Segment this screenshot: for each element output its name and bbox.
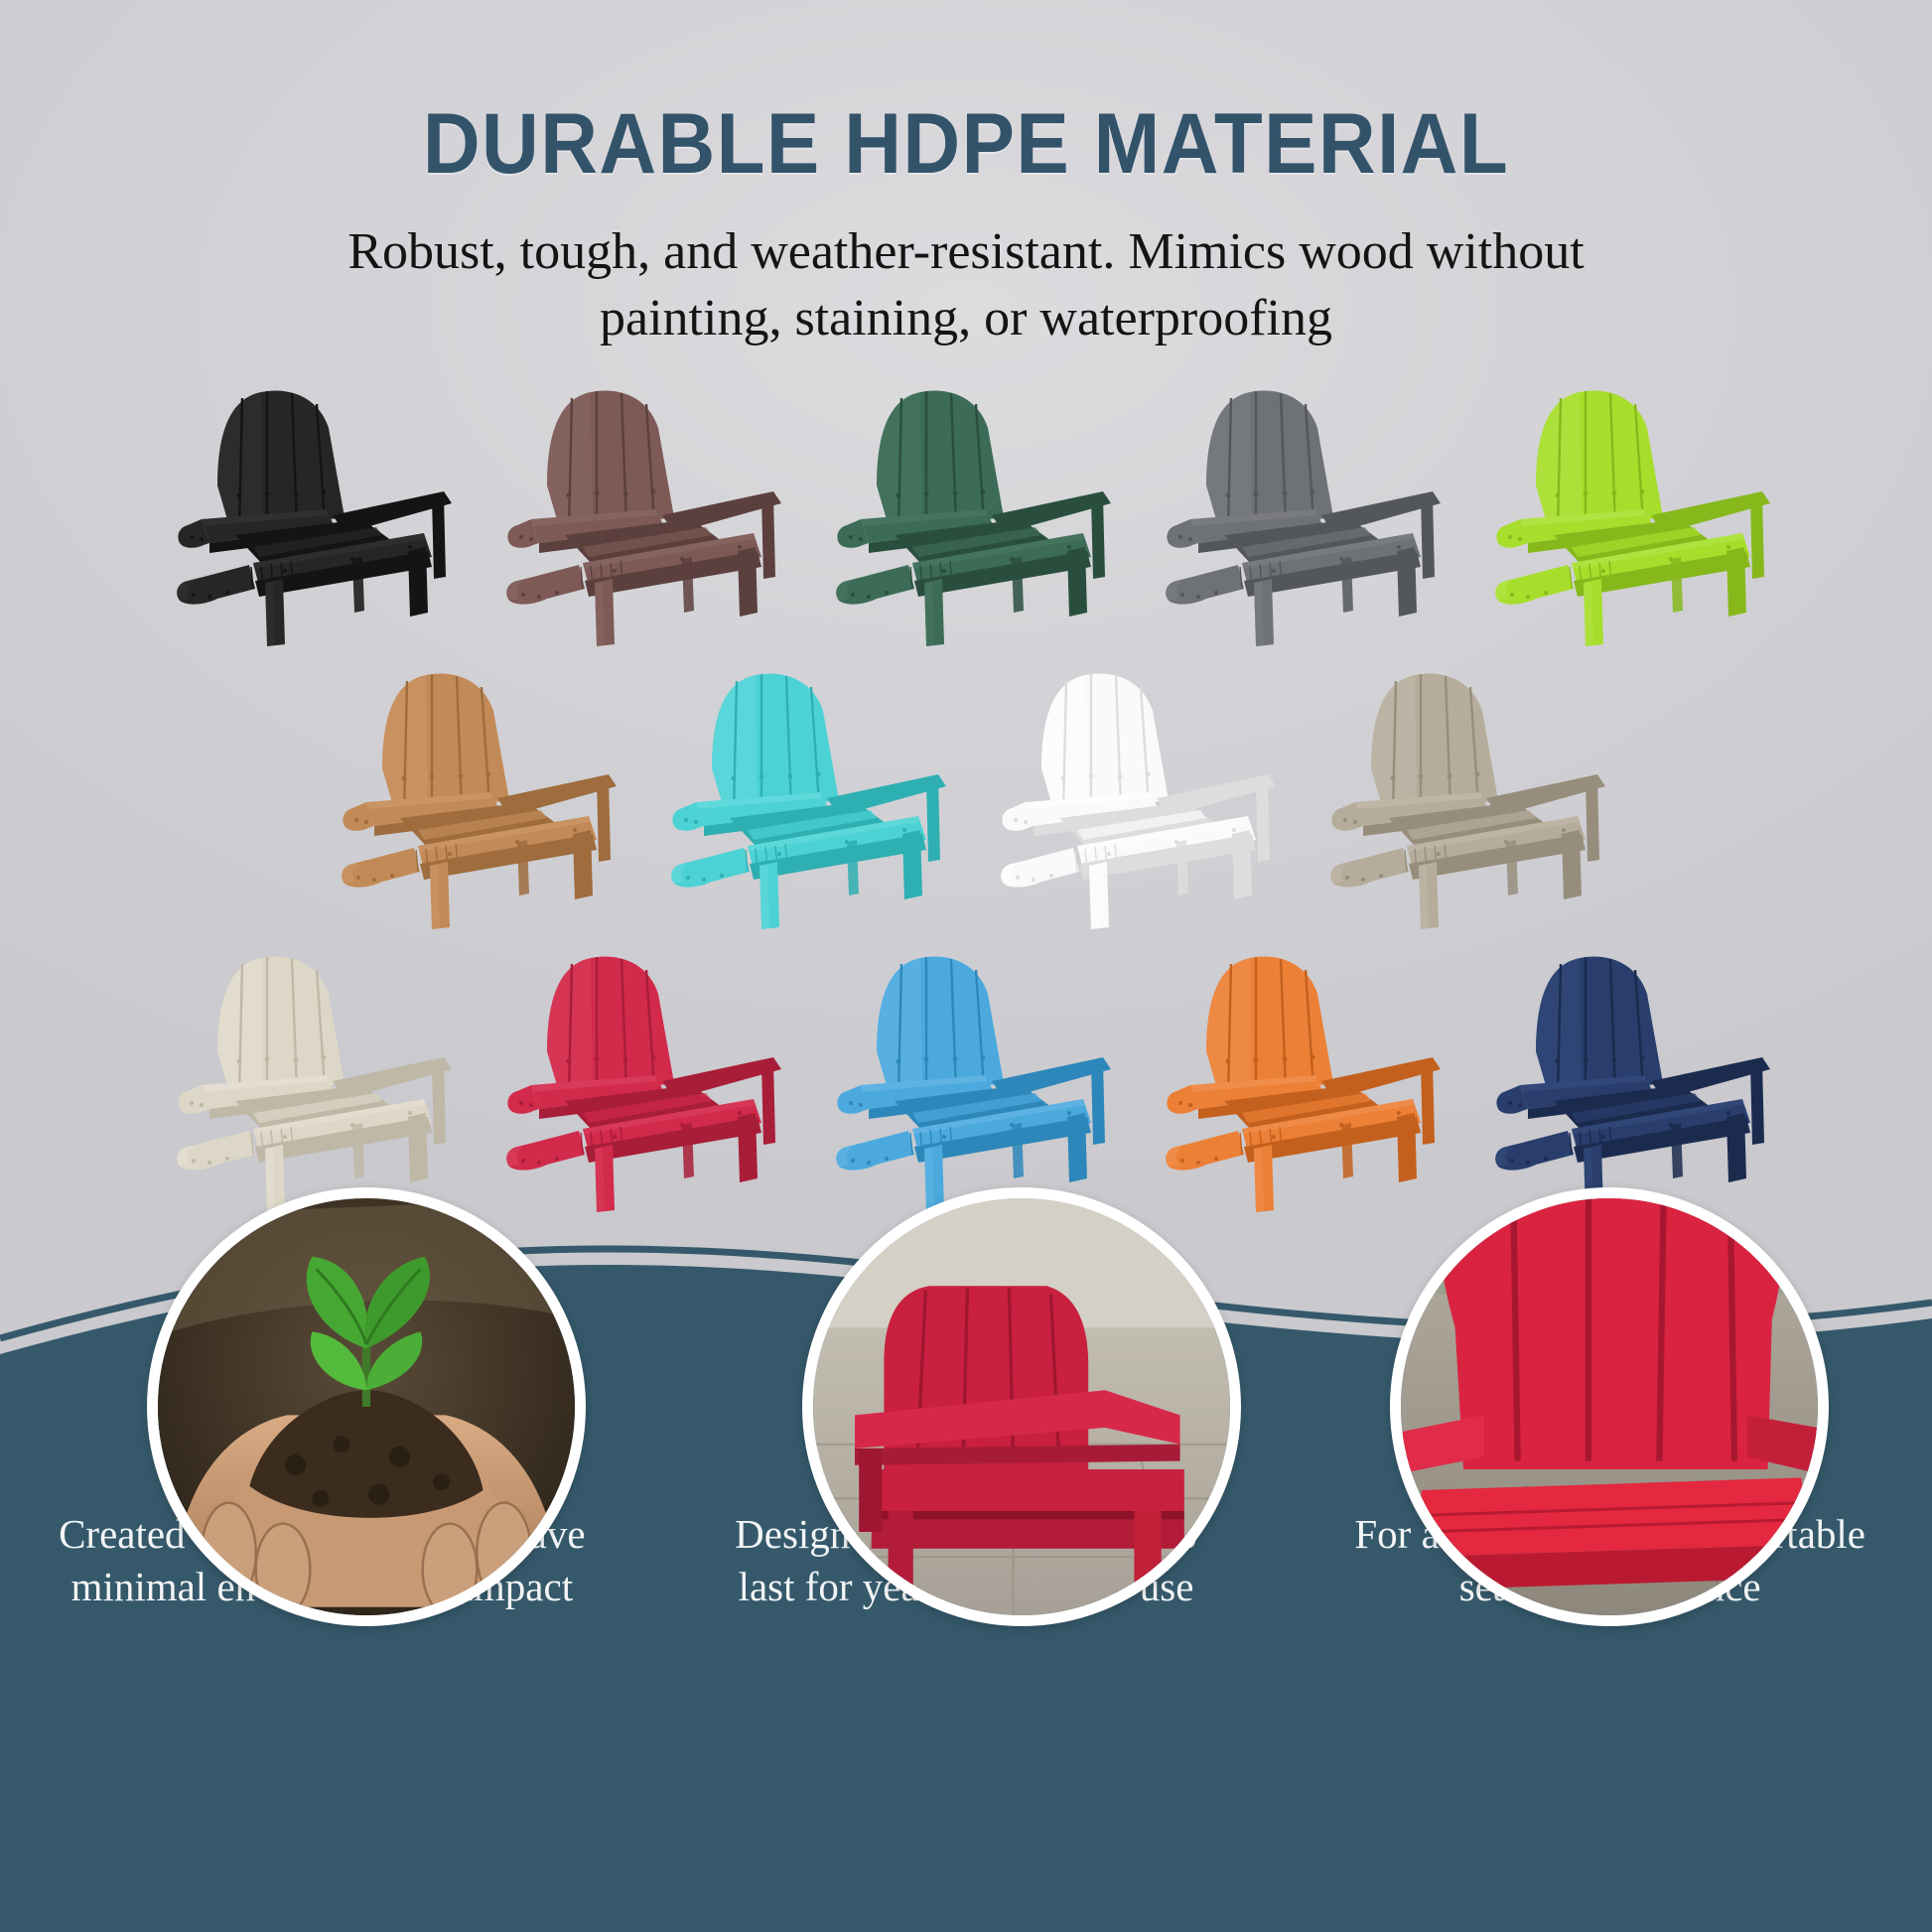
header: DURABLE HDPE MATERIAL Robust, tough, and…	[0, 0, 1932, 351]
subtitle-line-1: Robust, tough, and weather-resistant. Mi…	[291, 219, 1641, 286]
chair-swatch-crimson-red[interactable]	[472, 931, 801, 1214]
adirondack-chair-gray	[1147, 368, 1445, 648]
chair-swatch-white[interactable]	[966, 648, 1296, 931]
adirondack-chair-sky-blue	[817, 934, 1115, 1214]
chair-swatch-navy-blue[interactable]	[1460, 931, 1790, 1214]
chair-swatch-tan[interactable]	[307, 648, 636, 931]
page-subtitle: Robust, tough, and weather-resistant. Mi…	[291, 194, 1641, 351]
chair-swatch-orange[interactable]	[1131, 931, 1460, 1214]
adirondack-chair-tan	[323, 651, 621, 931]
chair-swatch-brown[interactable]	[472, 365, 801, 648]
chair-row-3	[0, 931, 1932, 1214]
adirondack-chair-ivory	[158, 934, 456, 1214]
page-title: DURABLE HDPE MATERIAL	[68, 0, 1864, 194]
adirondack-chair-white	[982, 651, 1280, 931]
adirondack-chair-lime-green	[1476, 368, 1774, 648]
adirondack-chair-orange	[1147, 934, 1445, 1214]
adirondack-chair-black	[158, 368, 456, 648]
adirondack-chair-taupe	[1311, 651, 1609, 931]
adirondack-chair-turquoise	[652, 651, 950, 931]
adirondack-chair-crimson-red	[487, 934, 785, 1214]
adirondack-chair-navy-blue	[1476, 934, 1774, 1214]
chair-swatch-taupe[interactable]	[1296, 648, 1625, 931]
subtitle-line-2: painting, staining, or waterproofing	[291, 286, 1641, 352]
chair-swatch-dark-green[interactable]	[801, 365, 1131, 648]
chair-row-1	[0, 365, 1932, 648]
chair-color-grid	[0, 365, 1932, 1214]
chair-swatch-sky-blue[interactable]	[801, 931, 1131, 1214]
chair-row-2	[0, 648, 1932, 931]
chair-swatch-turquoise[interactable]	[636, 648, 966, 931]
chair-swatch-lime-green[interactable]	[1460, 365, 1790, 648]
feature-photo-built-to-last	[802, 1187, 1241, 1626]
chair-swatch-gray[interactable]	[1131, 365, 1460, 648]
adirondack-chair-dark-green	[817, 368, 1115, 648]
chair-swatch-ivory[interactable]	[142, 931, 472, 1214]
chair-swatch-black[interactable]	[142, 365, 472, 648]
feature-photo-wide-seating	[1390, 1187, 1829, 1626]
feature-photo-eco-friendly	[147, 1187, 586, 1626]
adirondack-chair-brown	[487, 368, 785, 648]
